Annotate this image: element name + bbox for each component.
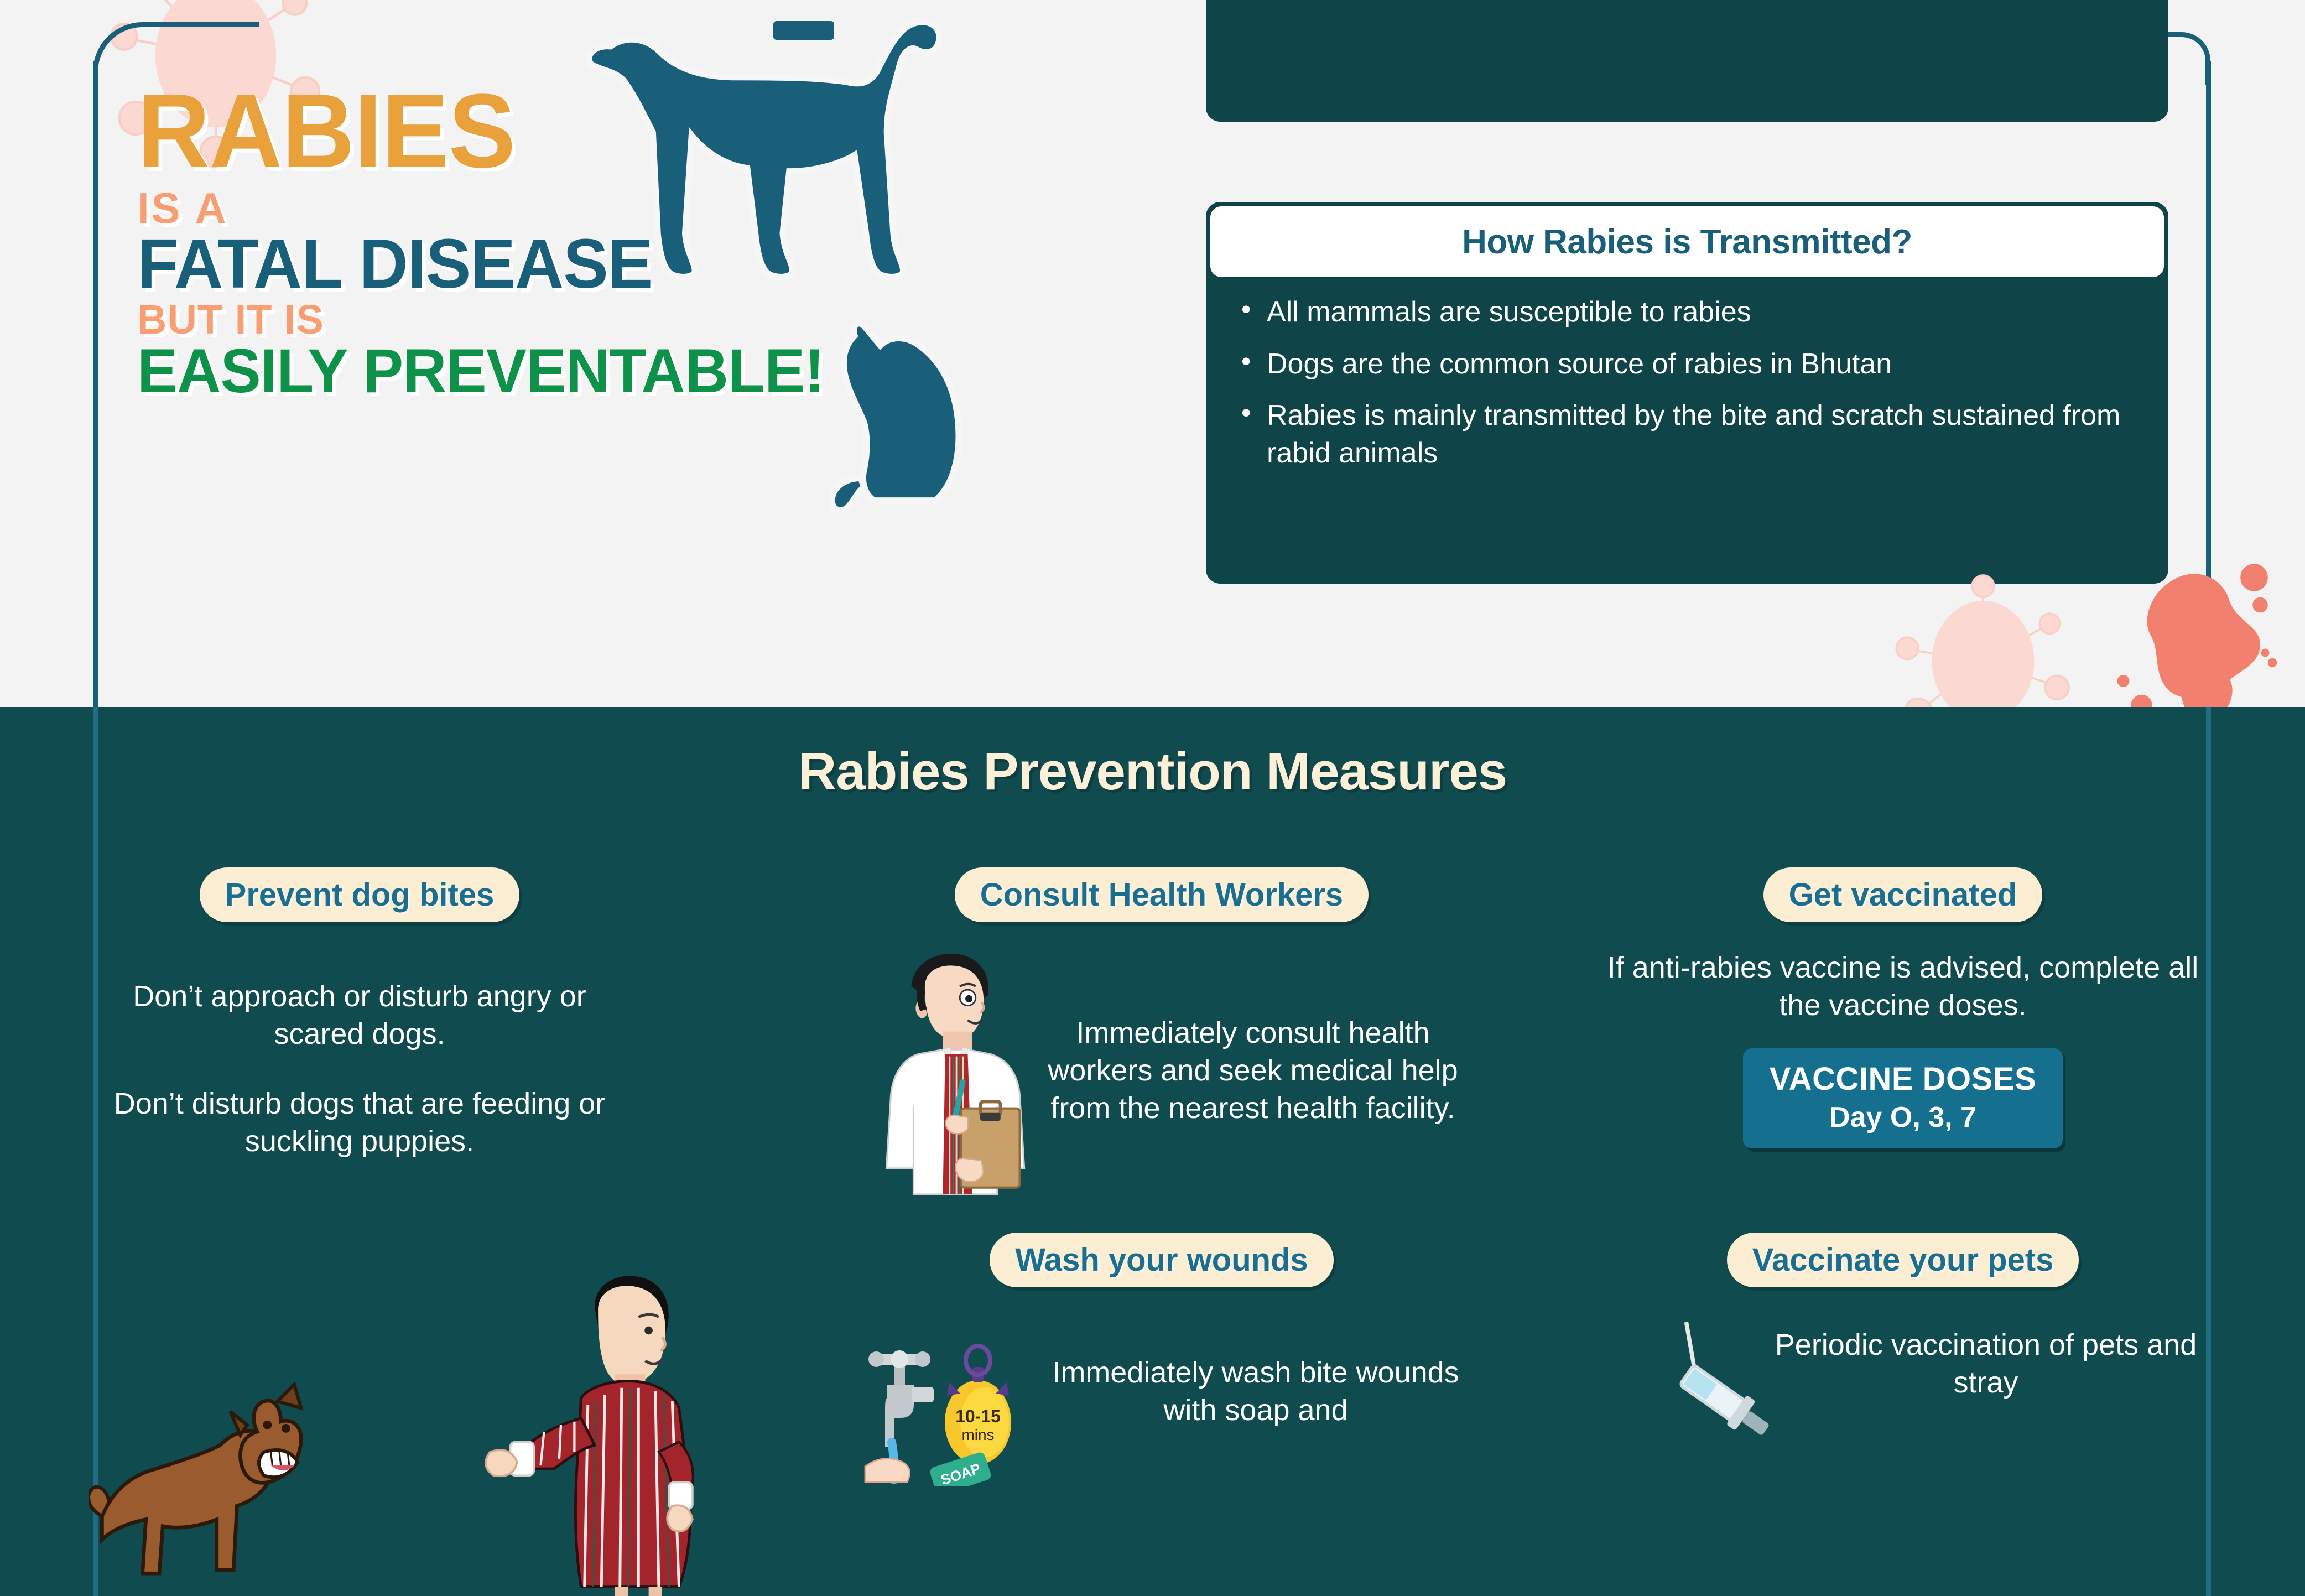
vaccine-doses-badge: VACCINE DOSES Day O, 3, 7 bbox=[1743, 1048, 2063, 1148]
measure-paragraph: If anti-rabies vaccine is advised, compl… bbox=[1604, 949, 2202, 1024]
stopwatch-unit: mins bbox=[961, 1426, 994, 1443]
list-item: Rabies is mainly transmitted by the bite… bbox=[1236, 397, 2139, 472]
transmission-panel: How Rabies is Transmitted? All mammals a… bbox=[1206, 202, 2168, 584]
measure-label-get-vaccinated[interactable]: Get vaccinated bbox=[1763, 867, 2043, 922]
headline-line-is-a: IS A bbox=[137, 189, 1116, 228]
measure-label-consult-health-workers[interactable]: Consult Health Workers bbox=[955, 867, 1369, 922]
measure-body-prevent-dog-bites: Don’t approach or disturb angry or scare… bbox=[111, 978, 608, 1160]
measure-paragraph: Immediately wash bite wounds with soap a… bbox=[1051, 1354, 1460, 1429]
measure-get-vaccinated: Get vaccinated If anti-rabies vaccine is… bbox=[1604, 867, 2202, 1148]
measure-wash-your-wounds: Wash your wounds bbox=[863, 1233, 1460, 1489]
syringe-icon bbox=[1604, 1321, 1770, 1517]
blood-splatter-icon bbox=[2146, 597, 2305, 707]
measure-body-get-vaccinated: If anti-rabies vaccine is advised, compl… bbox=[1604, 949, 2202, 1024]
measure-label-wash-your-wounds[interactable]: Wash your wounds bbox=[990, 1233, 1334, 1287]
virus-icon bbox=[1892, 570, 2074, 707]
vaccine-doses-schedule: Day O, 3, 7 bbox=[1770, 1101, 2036, 1134]
stopwatch-value: 10-15 bbox=[955, 1406, 1001, 1426]
measure-paragraph: Don’t approach or disturb angry or scare… bbox=[111, 978, 608, 1053]
measure-body-wash-your-wounds: Immediately wash bite wounds with soap a… bbox=[1051, 1321, 1460, 1429]
list-item: All mammals are susceptible to rabies bbox=[1236, 294, 2139, 331]
top-section: RABIES IS A FATAL DISEASE BUT IT IS EASI… bbox=[0, 0, 2305, 707]
measure-paragraph: Periodic vaccination of pets and stray bbox=[1770, 1326, 2202, 1401]
headline-block: RABIES IS A FATAL DISEASE BUT IT IS EASI… bbox=[137, 83, 1116, 399]
stopwatch-icon: 10-15 mins bbox=[945, 1346, 1011, 1464]
doctor-illustration bbox=[863, 937, 1045, 1199]
headline-line-fatal: FATAL DISEASE bbox=[137, 232, 1087, 296]
transmission-panel-body: All mammals are susceptible to rabies Do… bbox=[1206, 282, 2168, 472]
measure-body-vaccinate-your-pets: Periodic vaccination of pets and stray bbox=[1770, 1321, 2202, 1401]
transmission-panel-header: How Rabies is Transmitted? bbox=[1210, 206, 2164, 277]
vaccine-doses-title: VACCINE DOSES bbox=[1770, 1060, 2036, 1098]
rabies-facts-panel: There is no cure once infected However, … bbox=[1206, 0, 2168, 122]
woman-illustration bbox=[486, 1276, 693, 1596]
growling-dog-illustration bbox=[89, 1385, 301, 1574]
measure-body-consult-health-workers: Immediately consult health workers and s… bbox=[1045, 937, 1460, 1127]
dog-and-woman-illustration bbox=[89, 1260, 763, 1596]
measure-consult-health-workers: Consult Health Workers bbox=[863, 867, 1460, 1199]
measure-label-prevent-dog-bites[interactable]: Prevent dog bites bbox=[200, 867, 520, 922]
measure-label-vaccinate-your-pets[interactable]: Vaccinate your pets bbox=[1727, 1233, 2079, 1287]
headline-line-preventable: EASILY PREVENTABLE! bbox=[137, 342, 1097, 399]
headline-line-but-it-is: BUT IT IS bbox=[137, 301, 1116, 339]
measure-paragraph: Don’t disturb dogs that are feeding or s… bbox=[111, 1085, 608, 1160]
measure-vaccinate-your-pets: Vaccinate your pets Periodic vaccination… bbox=[1604, 1233, 2202, 1517]
transmission-bullet-list: All mammals are susceptible to rabies Do… bbox=[1236, 294, 2139, 472]
wash-illustration: 10-15 mins SOAP bbox=[863, 1321, 1051, 1489]
frame-left-line bbox=[93, 61, 98, 707]
measure-prevent-dog-bites: Prevent dog bites Don’t approach or dist… bbox=[111, 867, 608, 1160]
measure-paragraph: Immediately consult health workers and s… bbox=[1045, 1014, 1460, 1127]
page-title: Rabies Prevention Measures bbox=[0, 741, 2305, 802]
headline-line-rabies: RABIES bbox=[137, 83, 1077, 180]
frame-right-line-bottom bbox=[2206, 707, 2211, 1596]
prevention-section: Rabies Prevention Measures Prevent dog b… bbox=[0, 707, 2305, 1596]
list-item: Dogs are the common source of rabies in … bbox=[1236, 346, 2139, 383]
transmission-panel-title: How Rabies is Transmitted? bbox=[1462, 222, 1912, 262]
